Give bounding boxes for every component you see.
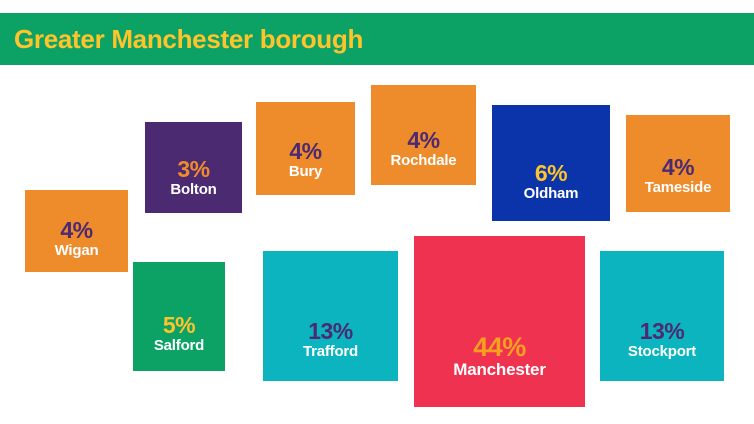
borough-name-label: Trafford xyxy=(303,344,358,361)
page-title: Greater Manchester borough xyxy=(0,26,363,52)
header-banner: Greater Manchester borough xyxy=(0,13,754,65)
borough-name-label: Oldham xyxy=(524,186,579,203)
borough-percent-value: 4% xyxy=(289,139,321,163)
borough-tile-trafford[interactable]: 13%Trafford xyxy=(263,251,398,381)
borough-tile-salford[interactable]: 5%Salford xyxy=(133,262,225,371)
borough-name-label: Stockport xyxy=(628,344,696,361)
borough-percent-value: 5% xyxy=(163,313,195,337)
borough-name-label: Wigan xyxy=(55,243,99,260)
borough-percent-value: 4% xyxy=(60,218,92,242)
borough-percent-value: 4% xyxy=(407,128,439,152)
borough-tile-stockport[interactable]: 13%Stockport xyxy=(600,251,724,381)
borough-name-label: Salford xyxy=(154,338,204,355)
borough-name-label: Rochdale xyxy=(391,153,457,170)
borough-percent-value: 3% xyxy=(177,157,209,181)
borough-percent-value: 6% xyxy=(535,161,567,185)
borough-tile-wigan[interactable]: 4%Wigan xyxy=(25,190,128,272)
borough-name-label: Bolton xyxy=(170,182,216,199)
borough-percent-value: 4% xyxy=(662,155,694,179)
borough-tile-rochdale[interactable]: 4%Rochdale xyxy=(371,85,476,185)
infographic-canvas: Greater Manchester borough 4%Wigan3%Bolt… xyxy=(0,0,754,424)
borough-percent-value: 44% xyxy=(473,333,526,361)
borough-tile-manchester[interactable]: 44%Manchester xyxy=(414,236,585,407)
borough-name-label: Tameside xyxy=(645,180,712,197)
borough-tile-oldham[interactable]: 6%Oldham xyxy=(492,105,610,221)
borough-percent-value: 13% xyxy=(640,319,685,343)
borough-name-label: Bury xyxy=(289,164,322,181)
borough-tile-bury[interactable]: 4%Bury xyxy=(256,102,355,195)
borough-name-label: Manchester xyxy=(453,361,545,380)
borough-percent-value: 13% xyxy=(308,319,353,343)
borough-tile-tameside[interactable]: 4%Tameside xyxy=(626,115,730,212)
borough-tile-bolton[interactable]: 3%Bolton xyxy=(145,122,242,213)
